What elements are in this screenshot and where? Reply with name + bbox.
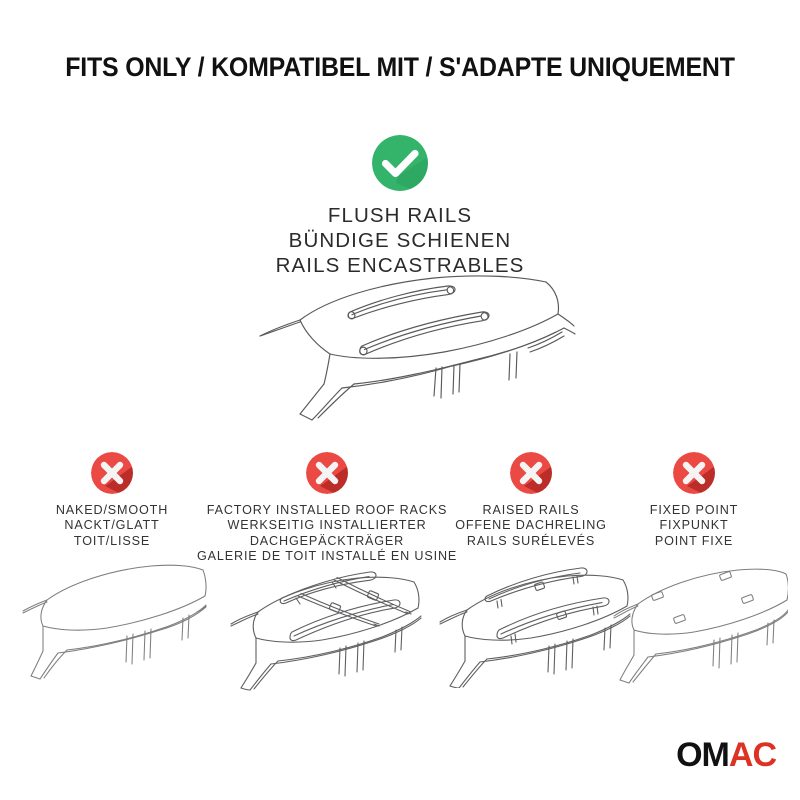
car-roof-naked-smooth-illustration (12, 556, 212, 684)
option-label-line-2: WERKSEITIG INSTALLIERTER (197, 518, 457, 533)
option-label-line-3: RAILS SURÉLEVÉS (427, 534, 635, 549)
logo-text-accent: AC (729, 736, 776, 774)
option-label-line-1: RAISED RAILS (427, 503, 635, 518)
option-label-line-3: TOIT/LISSE (12, 534, 212, 549)
header: FITS ONLY / KOMPATIBEL MIT / S'ADAPTE UN… (0, 52, 800, 83)
option-caption: FIXED POINT FIXPUNKT POINT FIXE (608, 503, 780, 549)
compatible-label-en: FLUSH RAILS (0, 203, 800, 228)
option-naked-smooth: NAKED/SMOOTH NACKT/GLATT TOIT/LISSE (12, 452, 212, 549)
option-label-line-1: FIXED POINT (608, 503, 780, 518)
option-label-line-3: POINT FIXE (608, 534, 780, 549)
car-roof-raised-rails-illustration (427, 556, 635, 688)
option-label-line-2: NACKT/GLATT (12, 518, 212, 533)
option-caption: NAKED/SMOOTH NACKT/GLATT TOIT/LISSE (12, 503, 212, 549)
cross-circle-icon (306, 452, 348, 494)
option-fixed-point: FIXED POINT FIXPUNKT POINT FIXE (608, 452, 780, 549)
car-roof-flush-rails-illustration (238, 268, 578, 428)
omac-logo: OMAC (676, 738, 776, 772)
car-roof-fixed-point-illustration (608, 556, 780, 688)
option-factory-roof-racks: FACTORY INSTALLED ROOF RACKS WERKSEITIG … (197, 452, 457, 565)
option-label-line-2: OFFENE DACHRELING (427, 518, 635, 533)
option-raised-rails: RAISED RAILS OFFENE DACHRELING RAILS SUR… (427, 452, 635, 549)
cross-circle-icon (510, 452, 552, 494)
option-caption: RAISED RAILS OFFENE DACHRELING RAILS SUR… (427, 503, 635, 549)
cross-circle-icon (673, 452, 715, 494)
option-label-line-1: NAKED/SMOOTH (12, 503, 212, 518)
compatible-label-de: BÜNDIGE SCHIENEN (0, 228, 800, 253)
infographic-page: FITS ONLY / KOMPATIBEL MIT / S'ADAPTE UN… (0, 0, 800, 800)
logo-text-primary: OM (676, 736, 729, 774)
compatible-caption: FLUSH RAILS BÜNDIGE SCHIENEN RAILS ENCAS… (0, 203, 800, 278)
check-circle-icon (372, 135, 428, 191)
option-label-line-2: FIXPUNKT (608, 518, 780, 533)
incompatible-options-row: NAKED/SMOOTH NACKT/GLATT TOIT/LISSE (0, 452, 800, 702)
option-label-line-1: FACTORY INSTALLED ROOF RACKS (197, 503, 457, 518)
page-title: FITS ONLY / KOMPATIBEL MIT / S'ADAPTE UN… (24, 52, 776, 83)
option-label-line-3: DACHGEPÄCKTRÄGER (197, 534, 457, 549)
compatible-section: FLUSH RAILS BÜNDIGE SCHIENEN RAILS ENCAS… (0, 135, 800, 278)
car-roof-factory-racks-illustration (197, 556, 457, 691)
cross-circle-icon (91, 452, 133, 494)
